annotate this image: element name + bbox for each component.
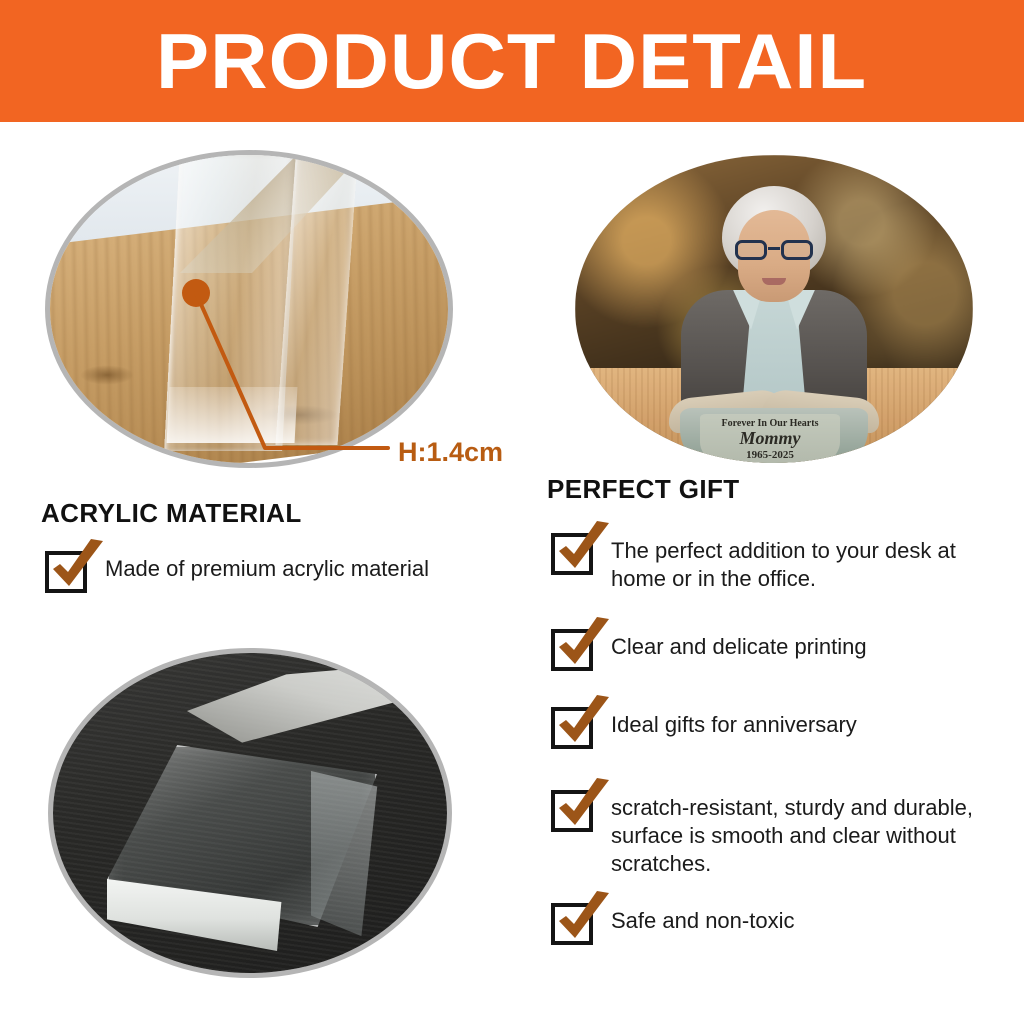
checklist-item-gift-4: scratch-resistant, sturdy and durable, s…	[551, 790, 1011, 878]
checkbox-outline[interactable]	[551, 629, 593, 671]
engraving-line-1: Forever In Our Hearts	[700, 418, 840, 430]
checklist-item-gift-5: Safe and non-toxic	[551, 903, 794, 945]
check-icon	[553, 617, 615, 675]
photo-acrylic-block-edge	[45, 150, 453, 468]
checklist-item-label: Ideal gifts for anniversary	[611, 711, 857, 739]
wood-table-scene	[50, 155, 448, 463]
memorial-keepsake-product: Forever In Our Hearts Mommy 1965-2025	[674, 400, 874, 468]
height-dimension-label: H:1.4cm	[398, 437, 503, 468]
check-icon	[553, 695, 615, 753]
check-icon	[47, 539, 109, 597]
check-icon	[553, 521, 615, 579]
wood-grain-knot	[80, 365, 134, 385]
checklist-item-gift-3: Ideal gifts for anniversary	[551, 707, 857, 749]
check-icon	[553, 778, 615, 836]
person-mouth	[762, 278, 786, 285]
lens-right	[781, 240, 813, 260]
engraved-plaque: Forever In Our Hearts Mommy 1965-2025	[700, 414, 840, 468]
acrylic-base-highlight	[167, 387, 298, 443]
section-heading-perfect-gift: PERFECT GIFT	[547, 474, 740, 505]
checklist-item-label: Safe and non-toxic	[611, 907, 794, 935]
lens-left	[735, 240, 767, 260]
checklist-item-label: The perfect addition to your desk at hom…	[611, 537, 1011, 593]
checkbox-outline[interactable]	[551, 903, 593, 945]
engraving-line-3: 1965-2025	[700, 449, 840, 462]
checklist-item-gift-1: The perfect addition to your desk at hom…	[551, 533, 1011, 593]
photo-acrylic-block-on-slate	[48, 648, 452, 978]
engraving-line-2: Mommy	[700, 429, 840, 449]
checklist-item-label: Clear and delicate printing	[611, 633, 867, 661]
photo-memorial-keepsake: Forever In Our Hearts Mommy 1965-2025	[570, 150, 978, 468]
checkbox-outline[interactable]	[45, 551, 87, 593]
checklist-item-gift-2: Clear and delicate printing	[551, 629, 867, 671]
section-heading-acrylic-material: ACRYLIC MATERIAL	[41, 498, 302, 529]
page-header-banner: PRODUCT DETAIL	[0, 0, 1024, 122]
page-title: PRODUCT DETAIL	[156, 22, 867, 100]
checklist-item-label: Made of premium acrylic material	[105, 555, 429, 583]
check-icon	[553, 891, 615, 949]
checklist-item-acrylic-1: Made of premium acrylic material	[45, 551, 429, 593]
checkbox-outline[interactable]	[551, 790, 593, 832]
checklist-item-label: scratch-resistant, sturdy and durable, s…	[611, 794, 1011, 878]
checkbox-outline[interactable]	[551, 533, 593, 575]
glasses-bridge	[768, 247, 780, 250]
checkbox-outline[interactable]	[551, 707, 593, 749]
eyeglasses-icon	[735, 240, 813, 260]
